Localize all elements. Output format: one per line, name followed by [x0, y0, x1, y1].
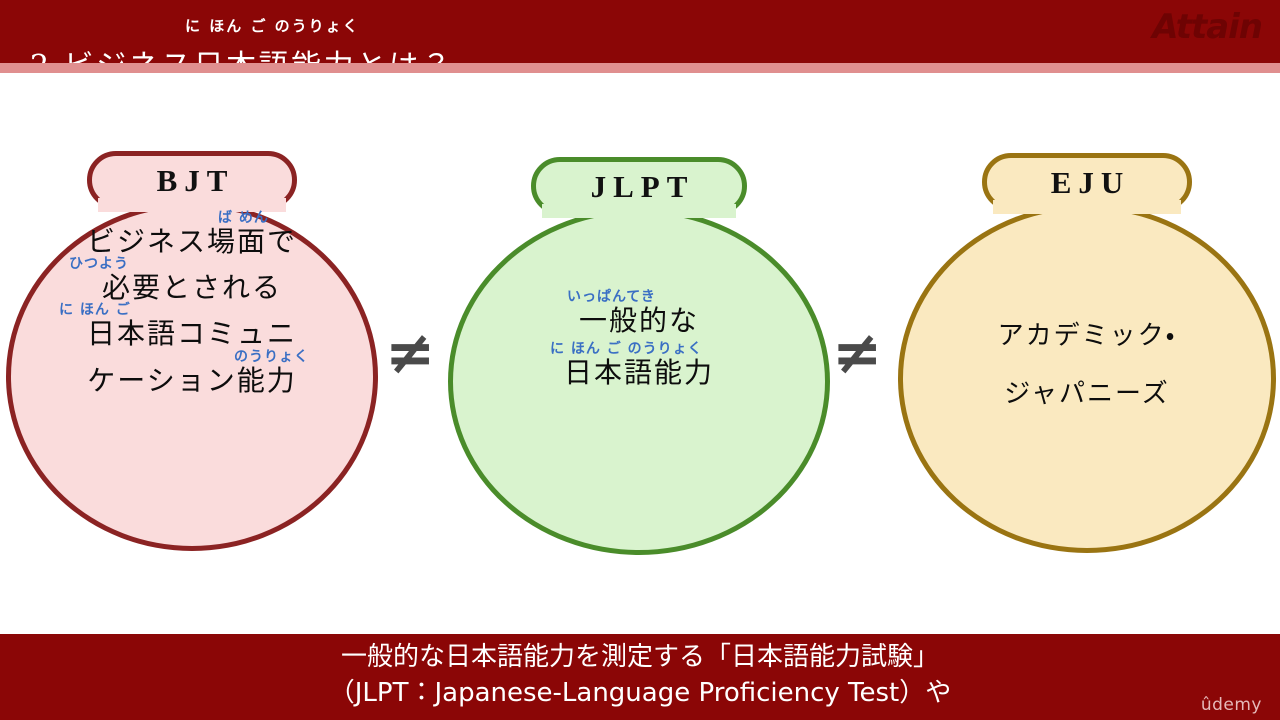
bjt-line-1: ば めん ビジネス場面で: [6, 227, 378, 257]
diagram-node-jlpt[interactable]: JLPT いっぱんてき 一般的な に ほん ご のうりょく 日本語能力: [448, 157, 830, 555]
eju-line-2-text: ジャパニーズ: [1004, 379, 1169, 409]
eju-line-1-text: アカデミック・: [998, 321, 1177, 351]
caption-line-1: 一般的な日本語能力を測定する「日本語能力試験」: [0, 640, 1280, 676]
jlpt-line-1-text: 一般的な: [579, 304, 699, 337]
diagram-stage: BJT ば めん ビジネス場面で ひつよう 必要とされる に ほん ご 日本語コ…: [0, 73, 1280, 634]
bjt-ruby-1: ば めん: [218, 211, 269, 225]
eju-body-text: アカデミック・ ジャパニーズ: [898, 322, 1276, 408]
attain-logo: Attain: [1152, 10, 1262, 44]
bjt-ruby-4: のうりょく: [234, 350, 309, 364]
title-ruby-block: に ほん ご のうりょく 2.ビジネス日本語能力とは？: [30, 32, 454, 62]
bjt-ruby-2: ひつよう: [69, 257, 129, 271]
not-equal-icon-2: ≠: [832, 323, 882, 383]
eju-label: EJU: [1044, 167, 1131, 198]
bjt-line-2-text: 必要とされる: [102, 271, 282, 304]
eju-pill-joint: [993, 200, 1181, 214]
caption-text: 一般的な日本語能力を測定する「日本語能力試験」 （JLPT：Japanese-L…: [0, 640, 1280, 712]
title-text: 2.ビジネス日本語能力とは？: [30, 49, 454, 63]
jlpt-pill-joint: [542, 204, 736, 218]
not-equal-icon-1: ≠: [385, 323, 435, 383]
bjt-line-4: のうりょく ケーション能力: [6, 366, 378, 396]
eju-line-1: アカデミック・: [898, 322, 1276, 350]
bjt-label: BJT: [150, 165, 235, 196]
page-title: に ほん ご のうりょく 2.ビジネス日本語能力とは？: [30, 2, 454, 62]
caption-bar: 一般的な日本語能力を測定する「日本語能力試験」 （JLPT：Japanese-L…: [0, 634, 1280, 720]
bjt-line-3: に ほん ご 日本語コミュニ: [6, 319, 378, 349]
bjt-line-3-text: 日本語コミュニ: [87, 317, 297, 350]
bjt-body-text: ば めん ビジネス場面で ひつよう 必要とされる に ほん ご 日本語コミュニ …: [6, 227, 378, 396]
header-banner: に ほん ご のうりょく 2.ビジネス日本語能力とは？ Attain: [0, 0, 1280, 63]
caption-line-2: （JLPT：Japanese-Language Proficiency Test…: [0, 676, 1280, 712]
diagram-node-eju[interactable]: EJU アカデミック・ ジャパニーズ: [898, 153, 1276, 553]
jlpt-ruby-1: いっぱんてき: [567, 290, 656, 304]
eju-line-2: ジャパニーズ: [898, 380, 1276, 408]
diagram-node-bjt[interactable]: BJT ば めん ビジネス場面で ひつよう 必要とされる に ほん ご 日本語コ…: [6, 151, 378, 551]
title-furigana: に ほん ご のうりょく: [185, 15, 360, 36]
jlpt-line-2: に ほん ご のうりょく 日本語能力: [448, 358, 830, 388]
bjt-ruby-3: に ほん ご: [59, 303, 131, 317]
udemy-watermark: ûdemy: [1201, 697, 1262, 714]
bjt-line-4-text: ケーション能力: [87, 364, 296, 397]
jlpt-line-1: いっぱんてき 一般的な: [448, 306, 830, 336]
jlpt-body-text: いっぱんてき 一般的な に ほん ご のうりょく 日本語能力: [448, 306, 830, 388]
jlpt-line-2-text: 日本語能力: [564, 356, 714, 389]
header-underline-strip: [0, 63, 1280, 73]
jlpt-label: JLPT: [584, 171, 695, 202]
bjt-line-2: ひつよう 必要とされる: [6, 273, 378, 303]
jlpt-ruby-2: に ほん ご のうりょく: [550, 342, 703, 356]
bjt-line-1-text: ビジネス場面で: [87, 225, 297, 258]
